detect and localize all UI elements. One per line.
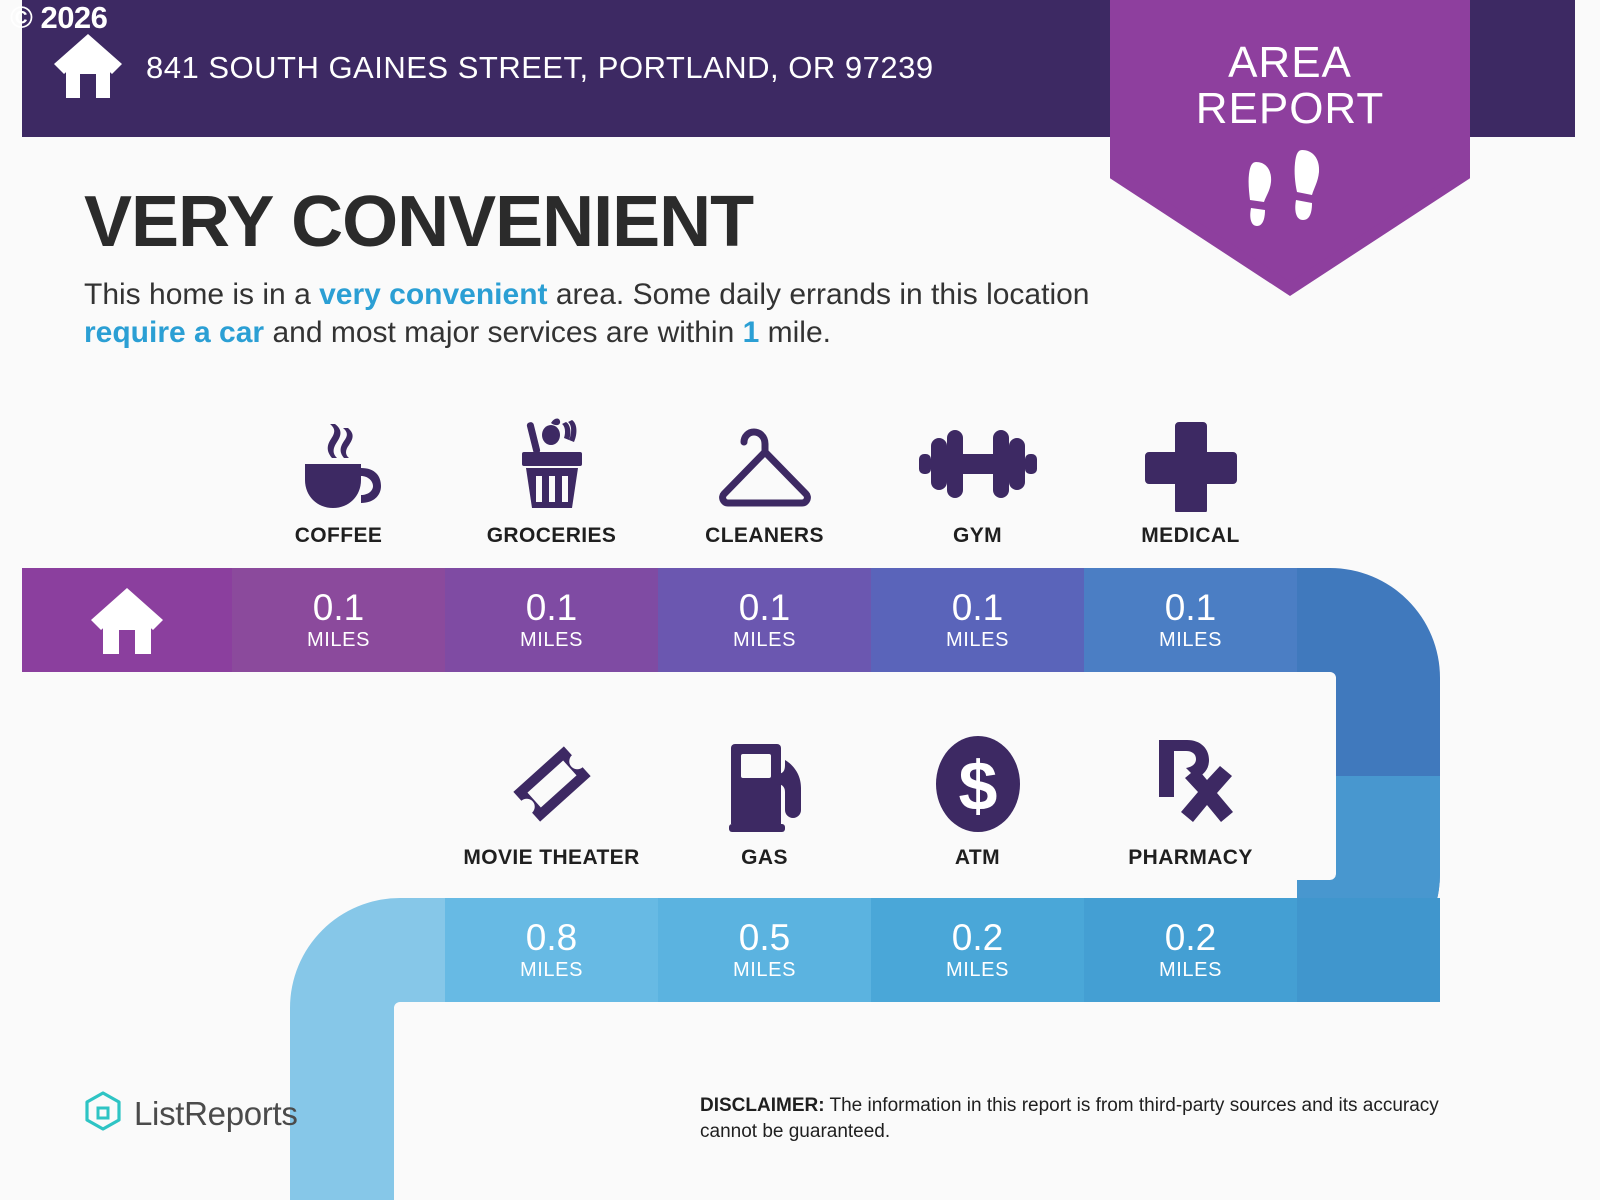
badge-line-2: REPORT xyxy=(1110,86,1470,132)
distance-cell: 0.1 MILES xyxy=(232,568,445,672)
row1-distances: 0.1 MILES 0.1 MILES 0.1 MILES 0.1 MILES … xyxy=(232,568,1297,672)
desc-part-0: This home is in a xyxy=(84,278,319,311)
movie-ticket-icon xyxy=(502,736,602,834)
poi-gas[interactable]: GAS xyxy=(658,736,871,870)
distance-value: 0.5 xyxy=(739,919,790,957)
distance-cell: 0.1 MILES xyxy=(1084,568,1297,672)
distance-unit: MILES xyxy=(733,629,796,651)
property-address: 841 SOUTH GAINES STREET, PORTLAND, OR 97… xyxy=(146,50,934,86)
disclaimer-label: DISCLAIMER: xyxy=(700,1095,825,1116)
poi-atm[interactable]: $ ATM xyxy=(871,736,1084,870)
home-icon xyxy=(89,584,165,656)
listreports-house-icon xyxy=(84,1090,122,1137)
poi-label: GYM xyxy=(953,524,1002,548)
svg-text:$: $ xyxy=(958,747,997,825)
distance-unit: MILES xyxy=(1159,959,1222,981)
distance-value: 0.2 xyxy=(952,919,1003,957)
home-icon xyxy=(52,30,124,105)
distance-unit: MILES xyxy=(307,629,370,651)
poi-medical[interactable]: MEDICAL xyxy=(1084,414,1297,548)
poi-label: MEDICAL xyxy=(1141,524,1239,548)
poi-cleaners[interactable]: CLEANERS xyxy=(658,414,871,548)
distance-cell: 0.1 MILES xyxy=(871,568,1084,672)
distance-unit: MILES xyxy=(520,959,583,981)
distance-value: 0.1 xyxy=(1165,589,1216,627)
page-description: This home is in a very convenient area. … xyxy=(84,276,1104,352)
desc-part-6: mile. xyxy=(759,316,831,349)
row2-distances: 0.8 MILES 0.5 MILES 0.2 MILES 0.2 MILES xyxy=(445,898,1297,1002)
distance-cell: 0.8 MILES xyxy=(445,898,658,1002)
distance-cell: 0.2 MILES xyxy=(871,898,1084,1002)
distance-value: 0.8 xyxy=(526,919,577,957)
header-content: 841 SOUTH GAINES STREET, PORTLAND, OR 97… xyxy=(52,30,934,105)
distance-unit: MILES xyxy=(520,629,583,651)
page-title: VERY CONVENIENT xyxy=(84,186,753,258)
poi-label: GROCERIES xyxy=(487,524,617,548)
poi-movie-theater[interactable]: MOVIE THEATER xyxy=(445,736,658,870)
distance-value: 0.1 xyxy=(739,589,790,627)
desc-highlight-distance: 1 xyxy=(743,316,760,349)
home-origin-cell xyxy=(22,568,232,672)
desc-part-4: and most major services are within xyxy=(264,316,743,349)
distance-value: 0.1 xyxy=(313,589,364,627)
clothes-hanger-icon xyxy=(710,414,820,512)
distance-unit: MILES xyxy=(733,959,796,981)
row2-icons: MOVIE THEATER GAS $ xyxy=(445,736,1297,870)
distance-cell: 0.1 MILES xyxy=(445,568,658,672)
footprints-icon xyxy=(1110,148,1470,239)
distance-cell: 0.2 MILES xyxy=(1084,898,1297,1002)
distance-cell: 0.5 MILES xyxy=(658,898,871,1002)
poi-label: CLEANERS xyxy=(705,524,824,548)
poi-pharmacy[interactable]: PHARMACY xyxy=(1084,736,1297,870)
dollar-coin-icon: $ xyxy=(930,736,1026,834)
row1-icons: COFFEE xyxy=(232,414,1297,548)
poi-label: MOVIE THEATER xyxy=(463,846,639,870)
poi-label: ATM xyxy=(955,846,1000,870)
prescription-rx-icon xyxy=(1141,736,1241,834)
distance-value: 0.1 xyxy=(952,589,1003,627)
copyright-label: © 2026 xyxy=(10,2,107,33)
desc-part-2: area. Some daily errands in this locatio… xyxy=(548,278,1090,311)
listreports-wordmark: ListReports xyxy=(134,1095,298,1133)
grocery-basket-icon xyxy=(504,414,600,512)
poi-label: COFFEE xyxy=(295,524,383,548)
desc-highlight-car: require a car xyxy=(84,316,264,349)
coffee-cup-icon xyxy=(291,414,387,512)
badge-line-1: AREA xyxy=(1110,40,1470,86)
gas-pump-icon xyxy=(715,736,815,834)
distance-value: 0.2 xyxy=(1165,919,1216,957)
distance-cell: 0.1 MILES xyxy=(658,568,871,672)
dumbbell-icon xyxy=(913,414,1043,512)
poi-coffee[interactable]: COFFEE xyxy=(232,414,445,548)
listreports-logo[interactable]: ListReports xyxy=(84,1090,298,1137)
left-connector xyxy=(290,898,445,1200)
badge-title: AREA REPORT xyxy=(1110,40,1470,132)
distance-value: 0.1 xyxy=(526,589,577,627)
medical-cross-icon xyxy=(1143,414,1239,512)
desc-highlight-convenient: very convenient xyxy=(319,278,547,311)
distance-unit: MILES xyxy=(946,959,1009,981)
poi-label: GAS xyxy=(741,846,788,870)
poi-gym[interactable]: GYM xyxy=(871,414,1084,548)
disclaimer: DISCLAIMER: The information in this repo… xyxy=(700,1093,1500,1145)
area-report-page: © 2026 841 SOUTH GAINES STREET, PORTLAND… xyxy=(0,0,1600,1200)
poi-label: PHARMACY xyxy=(1128,846,1253,870)
distance-unit: MILES xyxy=(1159,629,1222,651)
distance-unit: MILES xyxy=(946,629,1009,651)
poi-groceries[interactable]: GROCERIES xyxy=(445,414,658,548)
